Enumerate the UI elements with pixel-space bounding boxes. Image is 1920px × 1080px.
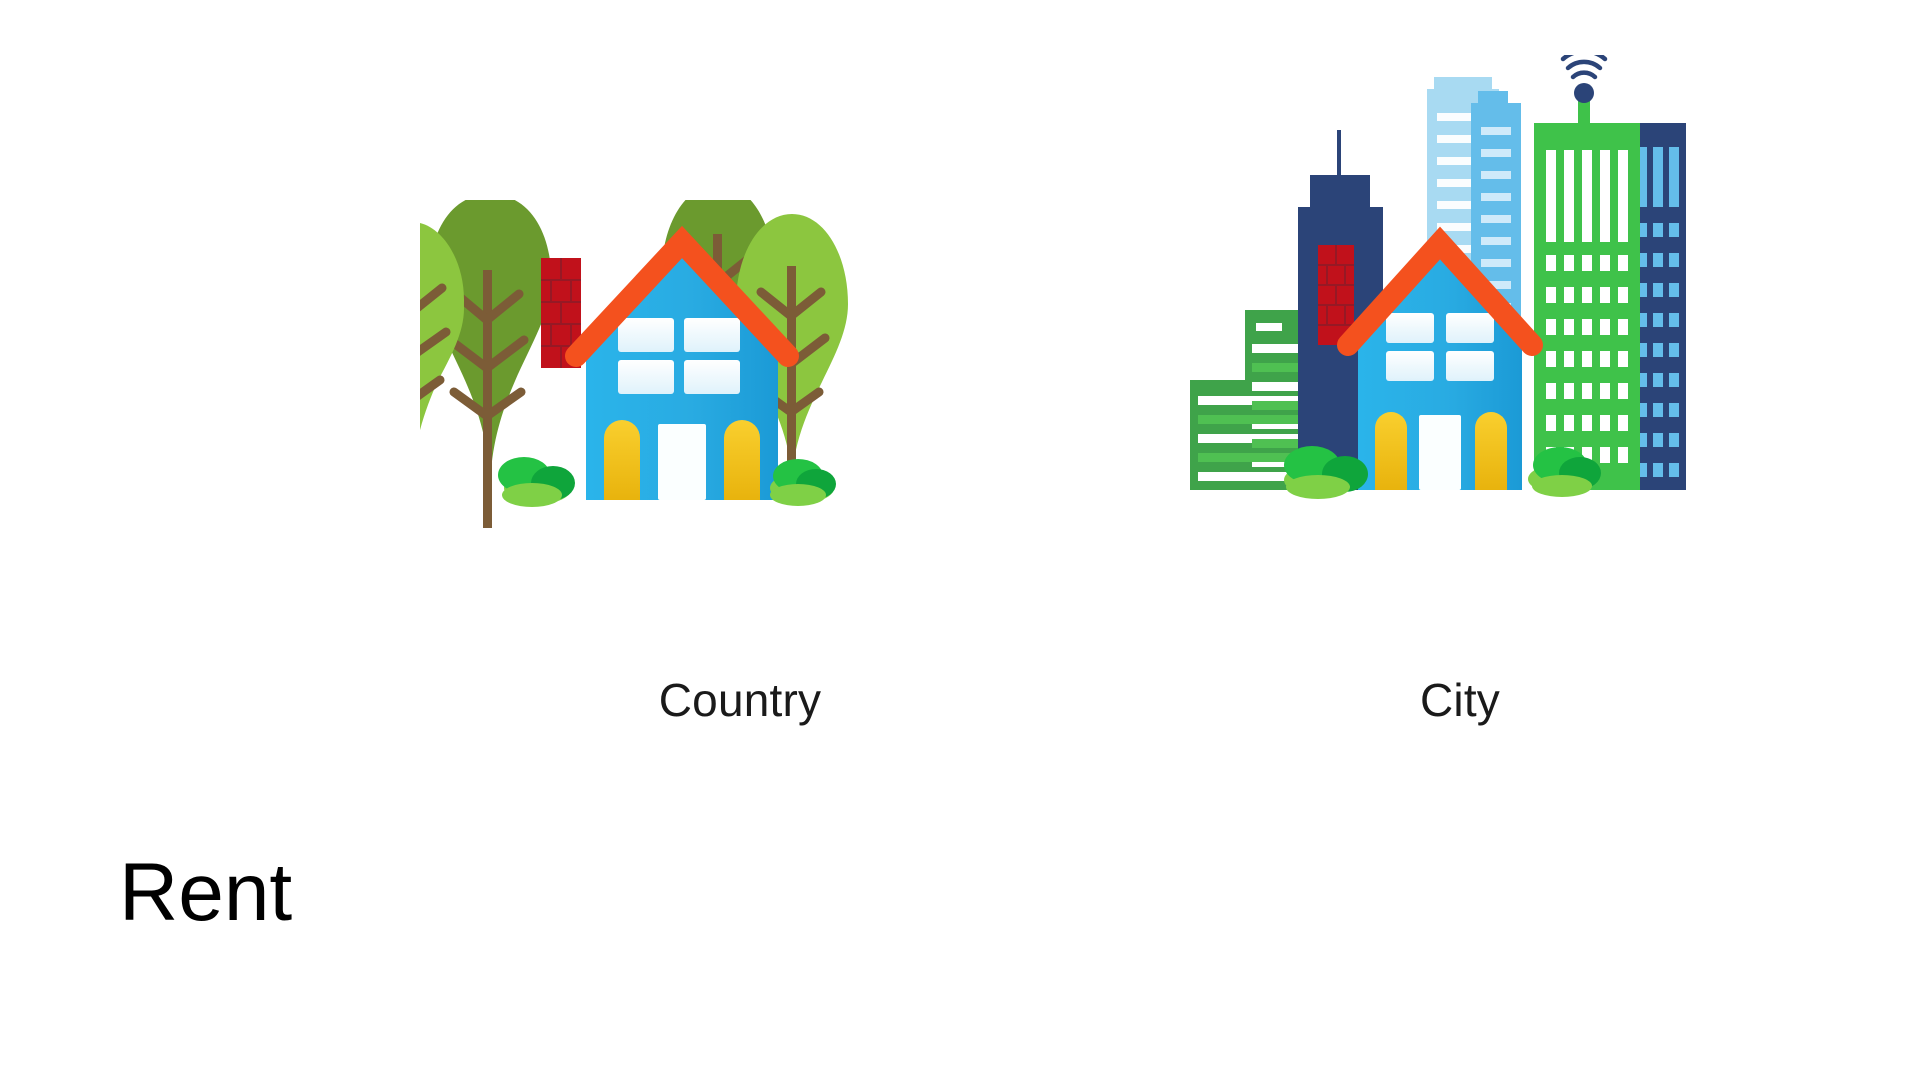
wifi-antenna-icon [1563,55,1605,103]
house-window-yellow [1475,412,1507,490]
house-window-yellow [724,420,760,500]
country-illustration [420,200,1060,620]
caption-country: Country [420,677,1060,723]
city-illustration [1190,55,1730,620]
house-window-yellow [1375,412,1407,490]
bush-icon [498,457,575,507]
skyscraper-bright-green [1534,93,1640,490]
house-door [658,424,706,500]
page-title: Rent [119,852,292,934]
slide-canvas: Country City Rent [0,0,1920,1080]
bush-icon [770,459,836,506]
house-window-yellow [604,420,640,500]
house-door [1419,415,1461,490]
caption-city: City [1190,677,1730,723]
